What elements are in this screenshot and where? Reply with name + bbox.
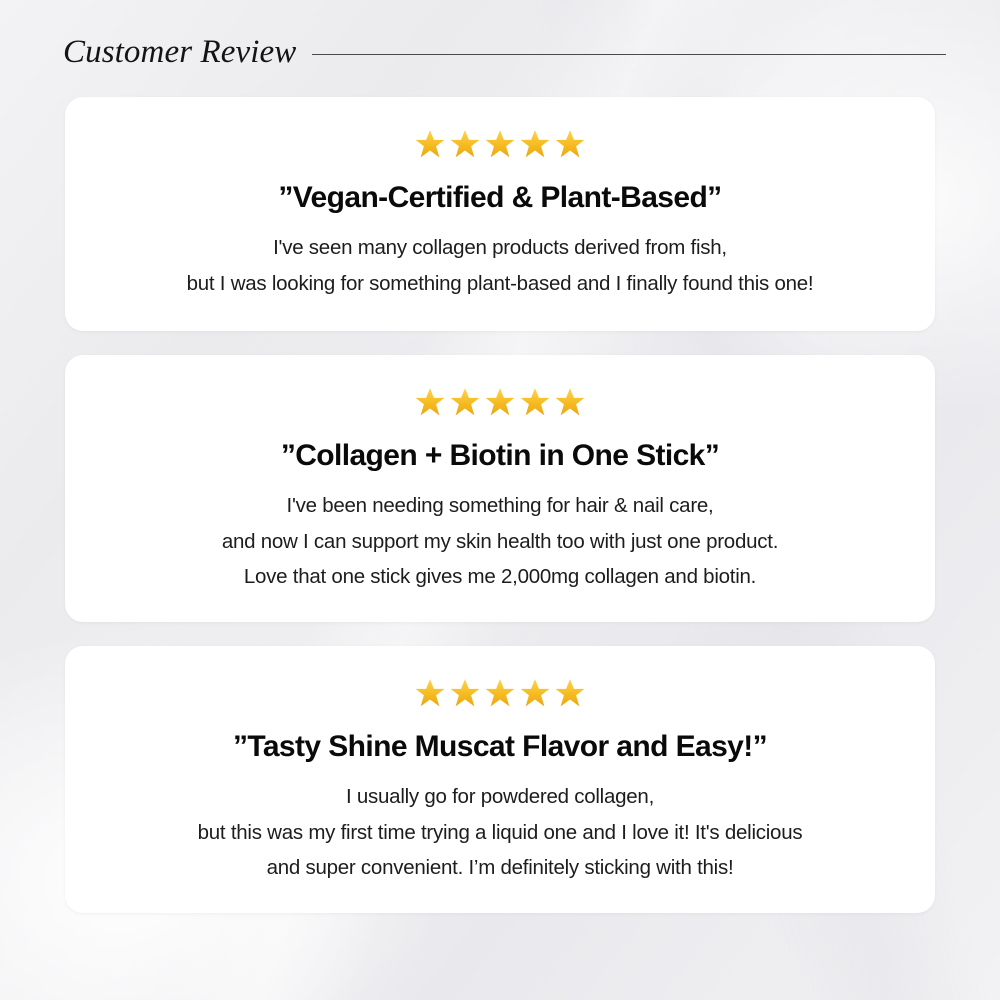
review-title: ”Vegan-Certified & Plant-Based” bbox=[91, 180, 909, 215]
review-title: ”Tasty Shine Muscat Flavor and Easy!” bbox=[91, 729, 909, 764]
star-icon bbox=[518, 385, 552, 419]
review-card: ”Tasty Shine Muscat Flavor and Easy!”I u… bbox=[65, 646, 935, 913]
star-icon bbox=[448, 385, 482, 419]
star-icon bbox=[413, 385, 447, 419]
review-body-line: Love that one stick gives me 2,000mg col… bbox=[91, 559, 909, 594]
star-icon bbox=[518, 676, 552, 710]
review-body-line: I usually go for powdered collagen, bbox=[91, 779, 909, 814]
star-icon bbox=[448, 676, 482, 710]
star-icon bbox=[518, 127, 552, 161]
star-icon bbox=[413, 127, 447, 161]
star-icon bbox=[483, 385, 517, 419]
star-rating bbox=[91, 385, 909, 419]
review-body: I usually go for powdered collagen,but t… bbox=[91, 779, 909, 885]
review-body-line: I've seen many collagen products derived… bbox=[91, 230, 909, 265]
review-body-line: and now I can support my skin health too… bbox=[91, 524, 909, 559]
star-icon bbox=[483, 127, 517, 161]
customer-review-page: Customer Review ”Vegan-Certified & Plant… bbox=[0, 0, 1000, 1000]
star-icon bbox=[413, 676, 447, 710]
header-divider bbox=[312, 54, 946, 55]
star-icon bbox=[553, 676, 587, 710]
review-body-line: I've been needing something for hair & n… bbox=[91, 488, 909, 523]
star-rating bbox=[91, 676, 909, 710]
review-body-line: and super convenient. I’m definitely sti… bbox=[91, 850, 909, 885]
star-icon bbox=[553, 385, 587, 419]
star-icon bbox=[483, 676, 517, 710]
review-body: I've seen many collagen products derived… bbox=[91, 230, 909, 301]
review-card: ”Collagen + Biotin in One Stick”I've bee… bbox=[65, 355, 935, 622]
review-body: I've been needing something for hair & n… bbox=[91, 488, 909, 594]
review-list: ”Vegan-Certified & Plant-Based”I've seen… bbox=[65, 97, 935, 913]
page-header: Customer Review bbox=[47, 0, 953, 69]
review-body-line: but I was looking for something plant-ba… bbox=[91, 266, 909, 301]
star-rating bbox=[91, 127, 909, 161]
review-body-line: but this was my first time trying a liqu… bbox=[91, 815, 909, 850]
star-icon bbox=[553, 127, 587, 161]
star-icon bbox=[448, 127, 482, 161]
page-title: Customer Review bbox=[47, 36, 296, 69]
review-title: ”Collagen + Biotin in One Stick” bbox=[91, 438, 909, 473]
review-card: ”Vegan-Certified & Plant-Based”I've seen… bbox=[65, 97, 935, 331]
